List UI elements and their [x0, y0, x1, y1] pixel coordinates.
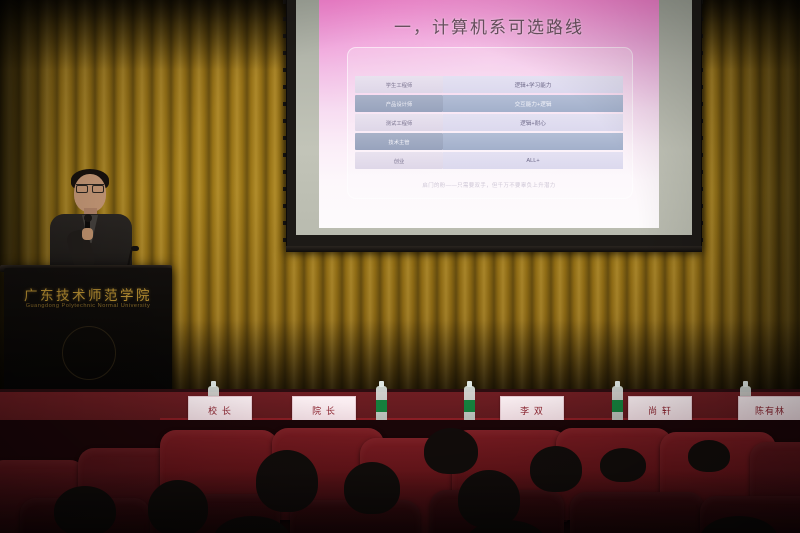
route-skills: 交互能力+逻辑 [443, 95, 623, 112]
table-row: 产品设计师 交互能力+逻辑 [355, 94, 623, 113]
audience-head [148, 480, 208, 533]
route-skills: ALL+ [443, 152, 623, 169]
microphone-head-icon [84, 214, 92, 222]
water-bottle [376, 386, 387, 422]
route-role: 学生工程师 [355, 76, 443, 93]
water-bottle [612, 386, 623, 422]
desk-microphone-head-icon [131, 246, 139, 251]
audience-head [344, 462, 400, 514]
speaker-hand [82, 228, 93, 240]
university-name-english: Guangdong Polytechnic Normal University [4, 303, 172, 309]
route-role: 创业 [355, 152, 443, 169]
table-row: 测试工程师 逻辑+耐心 [355, 113, 623, 132]
audience-head [256, 450, 318, 512]
lecture-hall-photo: 一，计算机系可选路线 学生工程师 逻辑+学习能力 产品设计师 交互能力+逻辑 [0, 0, 800, 533]
audience-head [424, 428, 478, 474]
slide-caption: 启门的粉——只需要双手，但千万不要辜负上升潜力 [319, 181, 659, 189]
route-skills: 逻辑+耐心 [443, 114, 623, 131]
audience-seating [0, 420, 800, 533]
career-routes-table: 学生工程师 逻辑+学习能力 产品设计师 交互能力+逻辑 测试工程师 逻辑+耐心 [355, 75, 623, 170]
audience-head [54, 486, 116, 533]
route-skills: 逻辑+学习能力 [443, 76, 623, 93]
projection-screen: 一，计算机系可选路线 学生工程师 逻辑+学习能力 产品设计师 交互能力+逻辑 [286, 0, 702, 250]
route-skills [443, 133, 623, 150]
university-emblem-icon [62, 326, 116, 380]
theater-seat [570, 492, 704, 533]
audience-head [688, 440, 730, 472]
lectern-podium: 广东技术师范学院 Guangdong Polytechnic Normal Un… [4, 268, 172, 398]
screen-surface: 一，计算机系可选路线 学生工程师 逻辑+学习能力 产品设计师 交互能力+逻辑 [296, 0, 692, 235]
screen-bottom-rod [286, 246, 702, 252]
water-bottle [464, 386, 475, 422]
projected-slide: 一，计算机系可选路线 学生工程师 逻辑+学习能力 产品设计师 交互能力+逻辑 [319, 0, 659, 228]
glasses-icon [76, 184, 104, 191]
route-role: 产品设计师 [355, 95, 443, 112]
table-row: 技术主管 [355, 132, 623, 151]
speaker-head [74, 174, 106, 212]
route-role: 测试工程师 [355, 114, 443, 131]
table-row: 创业 ALL+ [355, 151, 623, 170]
slide-title: 一，计算机系可选路线 [319, 13, 659, 38]
university-name-chinese: 广东技术师范学院 [4, 284, 172, 304]
audience-head [600, 448, 646, 482]
route-role: 技术主管 [355, 133, 443, 150]
table-row: 学生工程师 逻辑+学习能力 [355, 75, 623, 94]
audience-head [530, 446, 582, 492]
